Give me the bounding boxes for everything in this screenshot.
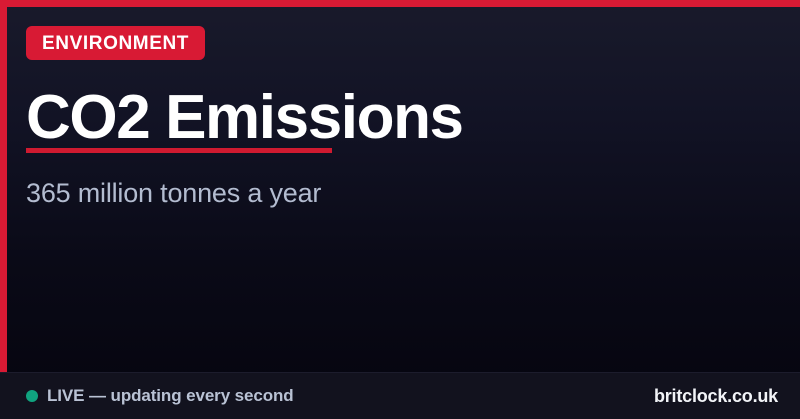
live-status-dot-icon [26, 390, 38, 402]
headline-block: CO2 Emissions [26, 86, 786, 150]
headline-underline [26, 148, 332, 153]
card-footer: LIVE — updating every second britclock.c… [0, 372, 800, 419]
site-url-label: britclock.co.uk [654, 373, 778, 419]
live-status-label: LIVE — updating every second [47, 386, 294, 406]
stat-card: ENVIRONMENT CO2 Emissions 365 million to… [0, 0, 800, 419]
card-content: ENVIRONMENT CO2 Emissions 365 million to… [26, 0, 800, 372]
accent-rule-left [0, 0, 7, 372]
live-status: LIVE — updating every second [26, 373, 294, 419]
page-title: CO2 Emissions [26, 86, 786, 150]
category-badge: ENVIRONMENT [26, 26, 205, 60]
subtitle: 365 million tonnes a year [26, 176, 321, 210]
